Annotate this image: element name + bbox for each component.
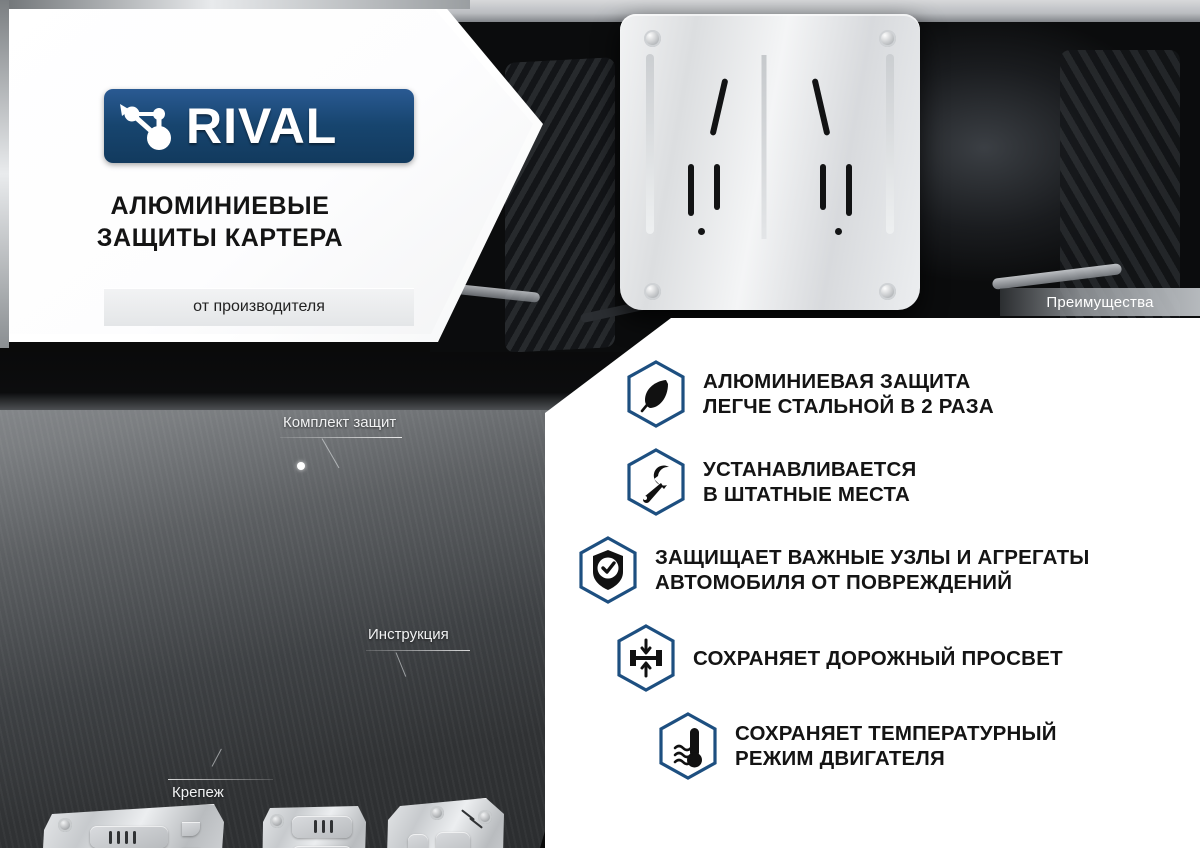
label-hardware: Крепеж bbox=[172, 784, 224, 801]
feature-text-protection: ЗАЩИЩАЕТ ВАЖНЫЕ УЗЛЫ И АГРЕГАТЫ АВТОМОБИ… bbox=[655, 545, 1090, 595]
poster-root: RIVAL АЛЮМИНИЕВЫЕ ЗАЩИТЫ КАРТЕРА от прои… bbox=[0, 0, 1200, 848]
vent-slot bbox=[117, 831, 120, 844]
thermometer-icon bbox=[657, 712, 719, 780]
feature-item-clearance: СОХРАНЯЕТ ДОРОЖНЫЙ ПРОСВЕТ bbox=[615, 624, 1185, 692]
feature-text-weight: АЛЮМИНИЕВАЯ ЗАЩИТА ЛЕГЧЕ СТАЛЬНОЙ В 2 РА… bbox=[703, 369, 994, 419]
drain-hole bbox=[698, 228, 705, 235]
vent-slot bbox=[812, 78, 831, 136]
feature-line-2: РЕЖИМ ДВИГАТЕЛЯ bbox=[735, 746, 1057, 771]
ground-clearance-icon bbox=[615, 624, 677, 692]
drain-hole bbox=[835, 228, 842, 235]
silver-frame-left bbox=[0, 0, 9, 348]
feature-line-1: СОХРАНЯЕТ ТЕМПЕРАТУРНЫЙ bbox=[735, 721, 1057, 746]
rival-molecule-icon bbox=[118, 100, 174, 152]
skid-plate-left bbox=[42, 804, 224, 848]
label-instruction: Инструкция bbox=[368, 626, 449, 643]
plate-rib bbox=[646, 54, 654, 234]
vent-slot bbox=[109, 831, 112, 844]
kit-label-underline bbox=[280, 437, 402, 438]
feature-line-2: АВТОМОБИЛЯ ОТ ПОВРЕЖДЕНИЙ bbox=[655, 570, 1090, 595]
headline-line-2: ЗАЩИТЫ КАРТЕРА bbox=[0, 222, 440, 254]
reinforcement-pad bbox=[90, 826, 168, 848]
reinforcement-pad bbox=[436, 832, 470, 848]
hero-subtitle: от производителя bbox=[193, 298, 325, 316]
feature-text-fitment: УСТАНАВЛИВАЕТСЯ В ШТАТНЫЕ МЕСТА bbox=[703, 457, 916, 507]
silver-frame-top bbox=[0, 0, 470, 9]
feature-line-1: УСТАНАВЛИВАЕТСЯ bbox=[703, 457, 916, 482]
hero-subtitle-bar: от производителя bbox=[104, 288, 414, 326]
brand-logo: RIVAL bbox=[104, 89, 414, 163]
feature-line-1: СОХРАНЯЕТ ДОРОЖНЫЙ ПРОСВЕТ bbox=[693, 646, 1063, 671]
headline-line-1: АЛЮМИНИЕВЫЕ bbox=[0, 190, 440, 222]
label-kit: Комплект защит bbox=[283, 414, 396, 431]
reinforcement-pad bbox=[408, 834, 428, 848]
leaf-icon bbox=[625, 360, 687, 428]
feature-item-weight: АЛЮМИНИЕВАЯ ЗАЩИТА ЛЕГЧЕ СТАЛЬНОЙ В 2 РА… bbox=[625, 360, 1185, 428]
vent-slot bbox=[820, 164, 826, 210]
vent-slot bbox=[125, 831, 128, 844]
mount-eyelet bbox=[270, 814, 284, 828]
skid-plate-middle bbox=[262, 802, 366, 848]
instruction-label-underline bbox=[366, 650, 470, 651]
shield-check-icon bbox=[577, 536, 639, 604]
brand-name: RIVAL bbox=[186, 97, 337, 155]
mount-eyelet bbox=[478, 810, 492, 824]
hero-headline: АЛЮМИНИЕВЫЕ ЗАЩИТЫ КАРТЕРА bbox=[0, 190, 440, 254]
vent-slot bbox=[714, 164, 720, 210]
vent-slot bbox=[846, 164, 852, 216]
wrench-icon bbox=[625, 448, 687, 516]
features-list: АЛЮМИНИЕВАЯ ЗАЩИТА ЛЕГЧЕ СТАЛЬНОЙ В 2 РА… bbox=[625, 360, 1185, 800]
vent-slot bbox=[688, 164, 694, 216]
mount-eyelet bbox=[58, 818, 72, 832]
vent-slot bbox=[322, 820, 325, 833]
mount-eyelet bbox=[430, 806, 444, 820]
feature-item-fitment: УСТАНАВЛИВАЕТСЯ В ШТАТНЫЕ МЕСТА bbox=[625, 448, 1185, 516]
plate-bolt bbox=[879, 283, 896, 300]
feature-text-temperature: СОХРАНЯЕТ ТЕМПЕРАТУРНЫЙ РЕЖИМ ДВИГАТЕЛЯ bbox=[735, 721, 1057, 771]
plate-bolt bbox=[644, 283, 661, 300]
advantages-badge: Преимущества bbox=[1000, 288, 1200, 316]
plate-bolt bbox=[879, 30, 896, 47]
installed-skid-plate bbox=[620, 14, 920, 310]
feature-item-temperature: СОХРАНЯЕТ ТЕМПЕРАТУРНЫЙ РЕЖИМ ДВИГАТЕЛЯ bbox=[657, 712, 1185, 780]
skid-plate-right bbox=[386, 798, 504, 848]
vent-slot bbox=[330, 820, 333, 833]
vent-slot bbox=[133, 831, 136, 844]
flange-fin bbox=[182, 822, 200, 836]
feature-item-protection: ЗАЩИЩАЕТ ВАЖНЫЕ УЗЛЫ И АГРЕГАТЫ АВТОМОБИ… bbox=[577, 536, 1185, 604]
vent-slot bbox=[314, 820, 317, 833]
feature-line-2: В ШТАТНЫЕ МЕСТА bbox=[703, 482, 916, 507]
feature-line-2: ЛЕГЧЕ СТАЛЬНОЙ В 2 РАЗА bbox=[703, 394, 994, 419]
feature-line-1: ЗАЩИЩАЕТ ВАЖНЫЕ УЗЛЫ И АГРЕГАТЫ bbox=[655, 545, 1090, 570]
feature-line-1: АЛЮМИНИЕВАЯ ЗАЩИТА bbox=[703, 369, 994, 394]
hardware-label-underline bbox=[168, 779, 273, 780]
feature-text-clearance: СОХРАНЯЕТ ДОРОЖНЫЙ ПРОСВЕТ bbox=[693, 646, 1063, 671]
plate-bolt bbox=[644, 30, 661, 47]
advantages-badge-label: Преимущества bbox=[1046, 294, 1153, 311]
kit-leader-dot bbox=[297, 462, 305, 470]
vent-slot bbox=[710, 78, 729, 136]
plate-rib bbox=[886, 54, 894, 234]
